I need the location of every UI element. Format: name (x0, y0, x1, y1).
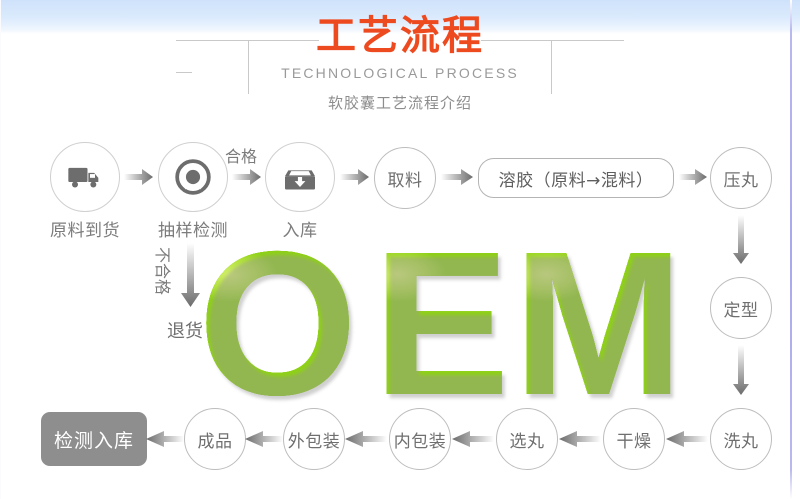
label-pill-selection: 选丸 (510, 427, 545, 452)
node-pill-selection[interactable]: 选丸 (496, 408, 558, 470)
arrow-picking-to-solgel (441, 168, 473, 186)
arrow-sampling-to-warehousing (232, 168, 262, 186)
label-sol-gel: 溶胶（原料→混料） (499, 166, 654, 191)
oem-letter-e: E (373, 236, 513, 411)
oem-letter-o: O (198, 236, 373, 411)
node-sampling-inspection[interactable] (158, 142, 228, 212)
node-pill-pressing[interactable]: 压丸 (710, 147, 772, 209)
truck-icon (65, 157, 105, 197)
arrow-washing-to-drying (666, 430, 708, 448)
label-outer-packaging: 外包装 (288, 427, 341, 452)
page-subtitle-cn: 软胶囊工艺流程介绍 (242, 94, 558, 114)
node-outer-packaging[interactable]: 外包装 (283, 408, 345, 470)
node-sol-gel[interactable]: 溶胶（原料→混料） (478, 158, 674, 198)
node-inspection-storage[interactable]: 检测入库 (41, 412, 147, 466)
arrow-inner-to-outer (345, 430, 387, 448)
header-rule-right (552, 40, 624, 41)
oem-watermark: O E M (198, 236, 698, 411)
node-shaping[interactable]: 定型 (710, 277, 772, 339)
node-warehousing[interactable] (265, 142, 335, 212)
arrow-shaping-to-washing (732, 345, 750, 402)
node-return-goods: 退货 (167, 317, 203, 343)
node-inner-packaging[interactable]: 内包装 (389, 408, 451, 470)
node-finished-product[interactable]: 成品 (184, 408, 246, 470)
edge-label-pass: 合格 (225, 143, 257, 167)
label-shaping: 定型 (724, 296, 759, 321)
inbox-down-arrow-icon (280, 157, 320, 197)
arrow-solgel-to-pressing (679, 168, 707, 186)
node-pill-washing[interactable]: 洗丸 (710, 408, 772, 470)
arrow-finished-to-storage (146, 430, 184, 448)
label-pill-washing: 洗丸 (724, 427, 759, 452)
header-rule-left (176, 40, 248, 41)
arrow-warehousing-to-picking (340, 168, 370, 186)
label-sampling-inspection: 抽样检测 (140, 216, 246, 241)
node-material-arrival[interactable] (50, 142, 120, 212)
page-subtitle-en: TECHNOLOGICAL PROCESS (242, 64, 558, 82)
label-drying: 干燥 (617, 427, 652, 452)
inspection-icon (173, 157, 213, 197)
label-finished-product: 成品 (198, 427, 233, 452)
arrow-pressing-to-shaping (732, 215, 750, 271)
node-drying[interactable]: 干燥 (603, 408, 665, 470)
arrow-sampling-to-return (181, 243, 201, 315)
label-warehousing: 入库 (272, 216, 328, 241)
label-inspection-storage: 检测入库 (54, 426, 134, 453)
arrow-outer-to-finished (245, 430, 283, 448)
header: 工艺流程 TECHNOLOGICAL PROCESS 软胶囊工艺流程介绍 (0, 14, 800, 114)
page-title: 工艺流程 (242, 14, 558, 58)
node-material-picking[interactable]: 取料 (374, 147, 436, 209)
edge-label-fail: 不合格 (152, 247, 176, 295)
label-material-arrival: 原料到货 (32, 216, 138, 241)
oem-letter-m: M (513, 236, 698, 411)
arrow-drying-to-selection (559, 430, 601, 448)
label-inner-packaging: 内包装 (394, 427, 447, 452)
arrow-selection-to-inner (452, 430, 494, 448)
process-flow-infographic: 工艺流程 TECHNOLOGICAL PROCESS 软胶囊工艺流程介绍 O E… (0, 0, 800, 499)
label-material-picking: 取料 (388, 166, 423, 191)
label-pill-pressing: 压丸 (724, 166, 759, 191)
arrow-arrival-to-sampling (124, 168, 154, 186)
header-rule-notch (176, 72, 192, 73)
